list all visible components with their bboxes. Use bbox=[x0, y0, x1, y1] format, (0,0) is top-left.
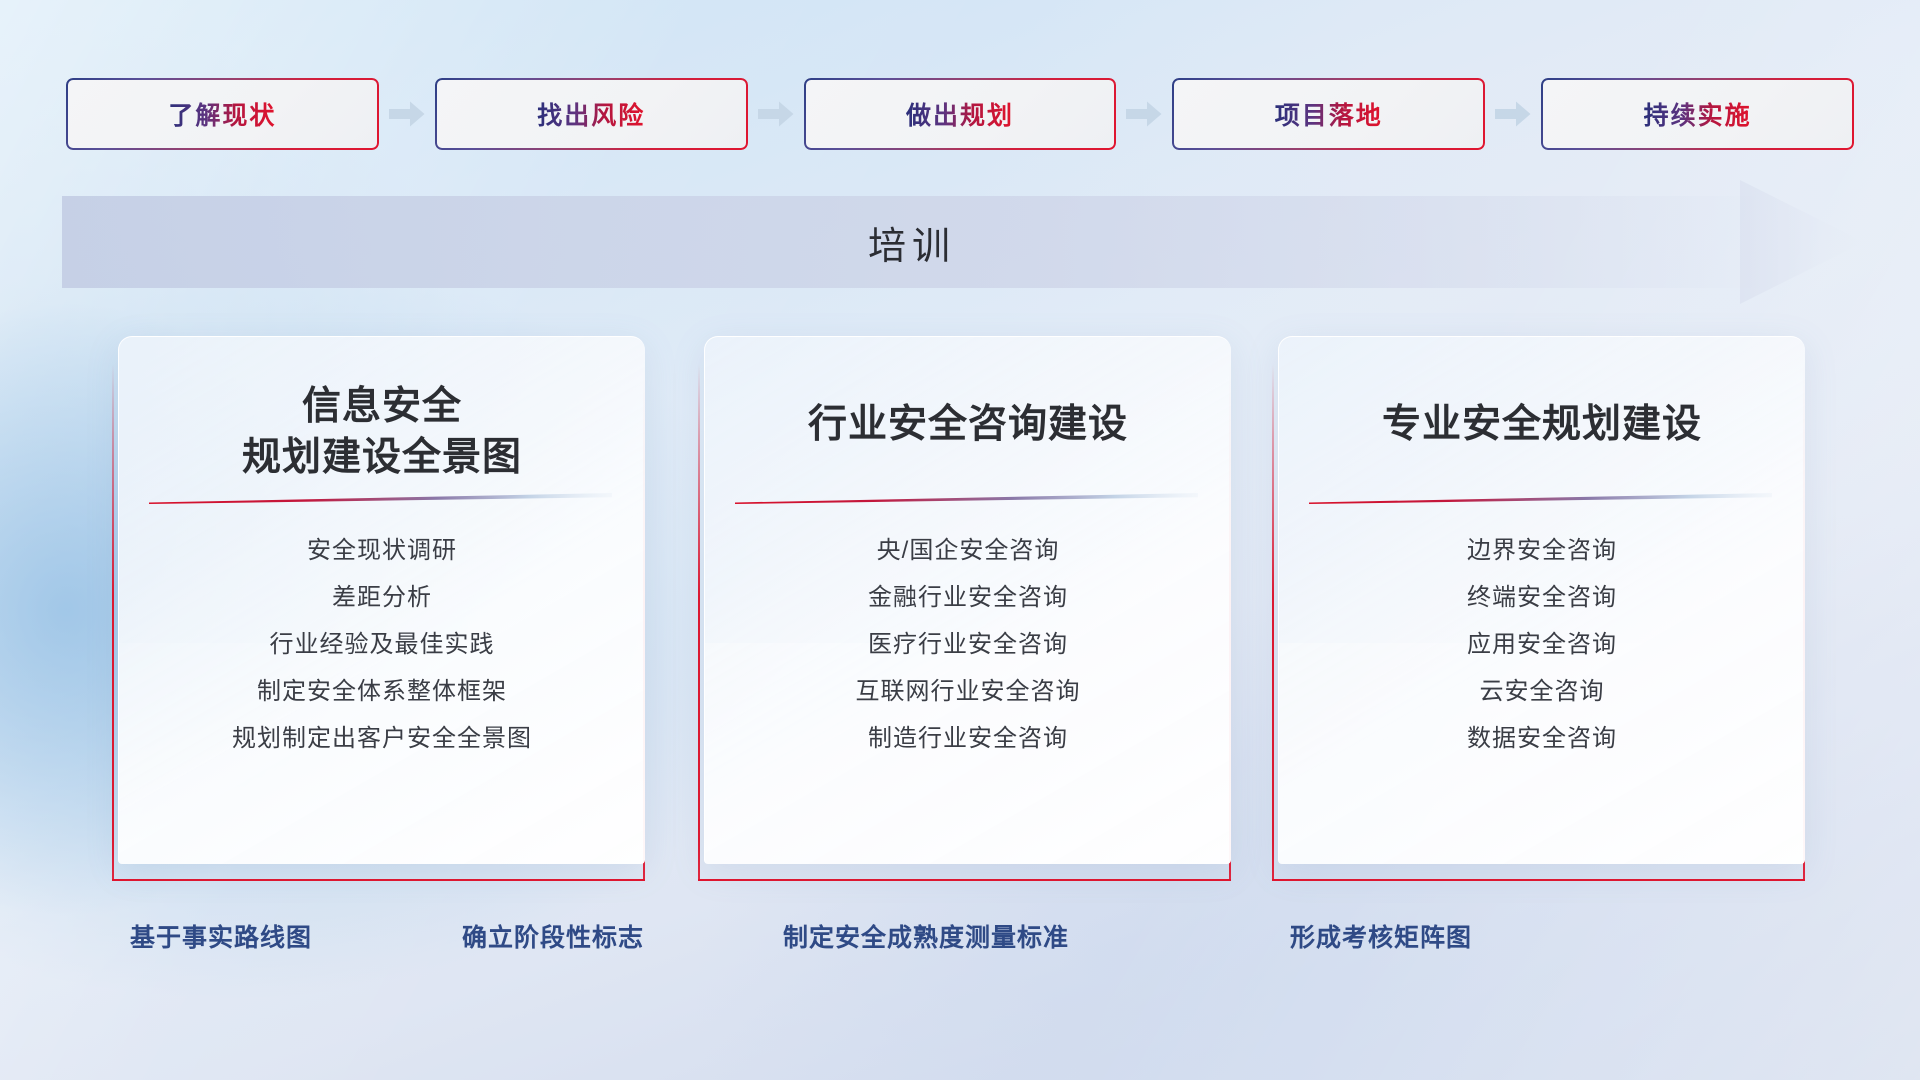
card-row: 信息安全 规划建设全景图 bbox=[0, 336, 1920, 896]
caption-item: 确立阶段性标志 bbox=[462, 918, 644, 954]
step-label: 了解现状 bbox=[168, 96, 276, 132]
banner-label: 培训 bbox=[62, 196, 1762, 288]
arrow-right-icon bbox=[389, 101, 425, 127]
arrow-right-icon bbox=[1126, 101, 1162, 127]
step-chip-5[interactable]: 持续实施 bbox=[1541, 78, 1854, 150]
list-item: 制造行业安全咨询 bbox=[868, 721, 1068, 757]
card-surface: 专业安全规划建设 边界安 bbox=[1278, 336, 1805, 864]
caption-row: 基于事实路线图 确立阶段性标志 制定安全成熟度测量标准 形成考核矩阵图 bbox=[0, 918, 1920, 962]
card-industry-security-consulting[interactable]: 行业安全咨询建设 央/国 bbox=[698, 336, 1231, 881]
step-label: 项目落地 bbox=[1275, 96, 1383, 132]
step-label: 做出规划 bbox=[906, 96, 1014, 132]
list-item: 终端安全咨询 bbox=[1467, 580, 1617, 616]
step-chip-4[interactable]: 项目落地 bbox=[1172, 78, 1485, 150]
training-banner: 培训 bbox=[62, 196, 1862, 288]
list-item: 医疗行业安全咨询 bbox=[868, 627, 1068, 663]
card-title-line1: 行业安全咨询建设 bbox=[705, 399, 1231, 450]
card-item-list: 安全现状调研 差距分析 行业经验及最佳实践 制定安全体系整体框架 规划制定出客户… bbox=[119, 533, 645, 757]
card-title: 专业安全规划建设 bbox=[1279, 399, 1805, 450]
card-divider bbox=[149, 493, 612, 504]
list-item: 云安全咨询 bbox=[1480, 674, 1605, 710]
list-item: 安全现状调研 bbox=[307, 533, 457, 569]
step-arrow-1 bbox=[379, 101, 435, 127]
card-professional-security-planning[interactable]: 专业安全规划建设 边界安 bbox=[1272, 336, 1805, 881]
card-item-list: 央/国企安全咨询 金融行业安全咨询 医疗行业安全咨询 互联网行业安全咨询 制造行… bbox=[705, 533, 1231, 757]
card-surface: 信息安全 规划建设全景图 bbox=[118, 336, 645, 864]
list-item: 差距分析 bbox=[332, 580, 432, 616]
list-item: 边界安全咨询 bbox=[1467, 533, 1617, 569]
card-divider bbox=[1309, 493, 1772, 504]
card-divider bbox=[735, 493, 1198, 504]
list-item: 行业经验及最佳实践 bbox=[270, 627, 495, 663]
list-item: 应用安全咨询 bbox=[1467, 627, 1617, 663]
list-item: 数据安全咨询 bbox=[1467, 721, 1617, 757]
card-bottom-accent bbox=[698, 879, 1231, 881]
caption-item: 形成考核矩阵图 bbox=[1290, 918, 1472, 954]
list-item: 制定安全体系整体框架 bbox=[257, 674, 507, 710]
card-title: 信息安全 规划建设全景图 bbox=[119, 381, 645, 484]
card-surface: 行业安全咨询建设 央/国 bbox=[704, 336, 1231, 864]
caption-item: 基于事实路线图 bbox=[130, 918, 312, 954]
list-item: 央/国企安全咨询 bbox=[877, 533, 1060, 569]
step-arrow-3 bbox=[1116, 101, 1172, 127]
card-left-accent bbox=[1272, 364, 1274, 881]
step-label: 找出风险 bbox=[537, 96, 645, 132]
arrow-right-icon bbox=[1495, 101, 1531, 127]
step-chip-3[interactable]: 做出规划 bbox=[804, 78, 1117, 150]
step-arrow-2 bbox=[748, 101, 804, 127]
card-left-accent bbox=[698, 364, 700, 881]
list-item: 规划制定出客户安全全景图 bbox=[232, 721, 532, 757]
caption-item: 制定安全成熟度测量标准 bbox=[783, 918, 1069, 954]
step-chip-2[interactable]: 找出风险 bbox=[435, 78, 748, 150]
card-title: 行业安全咨询建设 bbox=[705, 399, 1231, 450]
card-left-accent bbox=[112, 364, 114, 881]
process-step-row: 了解现状 找出风险 做出规划 项目落地 持续实施 bbox=[66, 78, 1854, 150]
card-item-list: 边界安全咨询 终端安全咨询 应用安全咨询 云安全咨询 数据安全咨询 bbox=[1279, 533, 1805, 757]
card-title-line1: 信息安全 bbox=[119, 381, 645, 432]
card-title-line1: 专业安全规划建设 bbox=[1279, 399, 1805, 450]
list-item: 互联网行业安全咨询 bbox=[856, 674, 1081, 710]
list-item: 金融行业安全咨询 bbox=[868, 580, 1068, 616]
step-label: 持续实施 bbox=[1644, 96, 1752, 132]
step-chip-1[interactable]: 了解现状 bbox=[66, 78, 379, 150]
card-info-security-blueprint[interactable]: 信息安全 规划建设全景图 bbox=[112, 336, 645, 881]
card-title-line2: 规划建设全景图 bbox=[119, 432, 645, 483]
card-bottom-accent bbox=[112, 879, 645, 881]
arrow-right-icon bbox=[758, 101, 794, 127]
card-bottom-accent bbox=[1272, 879, 1805, 881]
step-arrow-4 bbox=[1485, 101, 1541, 127]
